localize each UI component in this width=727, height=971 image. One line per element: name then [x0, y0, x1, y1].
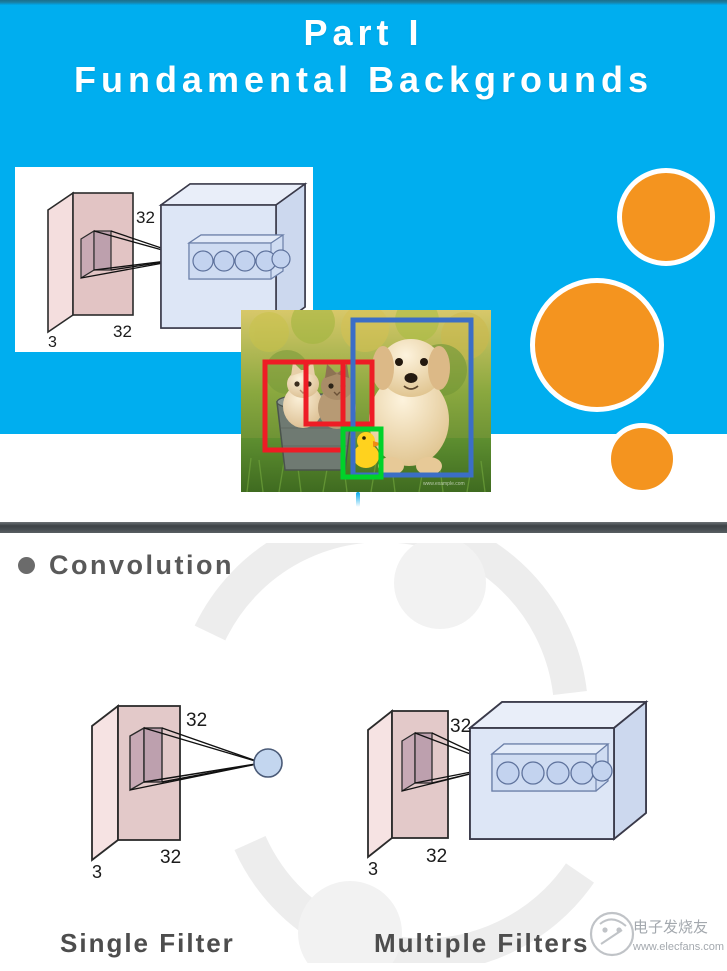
svg-text:32: 32	[186, 710, 207, 731]
caption-multiple-filters: Multiple Filters	[374, 928, 589, 959]
svg-text:3: 3	[368, 859, 378, 879]
title-section: Part I Fundamental Backgrounds	[0, 0, 727, 524]
decorative-circle-top	[617, 168, 715, 266]
svg-text:32: 32	[136, 208, 155, 227]
svg-text:3: 3	[92, 862, 102, 882]
object-detection-example-photo: www.example.com	[241, 310, 491, 492]
svg-text:32: 32	[450, 716, 471, 737]
bullet-icon	[18, 557, 35, 574]
title-line-1: Part I	[0, 10, 727, 56]
svg-text:32: 32	[160, 847, 181, 868]
section-divider	[0, 522, 727, 533]
caption-single-filter: Single Filter	[60, 928, 235, 959]
content-section: Convolution 32 32 3	[0, 533, 727, 971]
decorative-circle-bottom	[606, 423, 678, 495]
section-heading: Convolution	[18, 550, 234, 581]
title-line-2: Fundamental Backgrounds	[0, 56, 727, 104]
svg-text:www.example.com: www.example.com	[423, 481, 465, 487]
photo-pointer-tick	[356, 492, 360, 507]
svg-text:32: 32	[426, 846, 447, 867]
svg-text:3: 3	[48, 334, 57, 351]
heading-label: Convolution	[49, 550, 234, 581]
slide-root: Part I Fundamental Backgrounds	[0, 0, 727, 971]
slide-title: Part I Fundamental Backgrounds	[0, 10, 727, 104]
single-filter-diagram: 32 32 3	[70, 678, 310, 908]
multiple-filters-diagram: 32 32 3	[350, 678, 660, 908]
decorative-circle-middle	[530, 278, 664, 412]
svg-text:32: 32	[113, 322, 132, 341]
